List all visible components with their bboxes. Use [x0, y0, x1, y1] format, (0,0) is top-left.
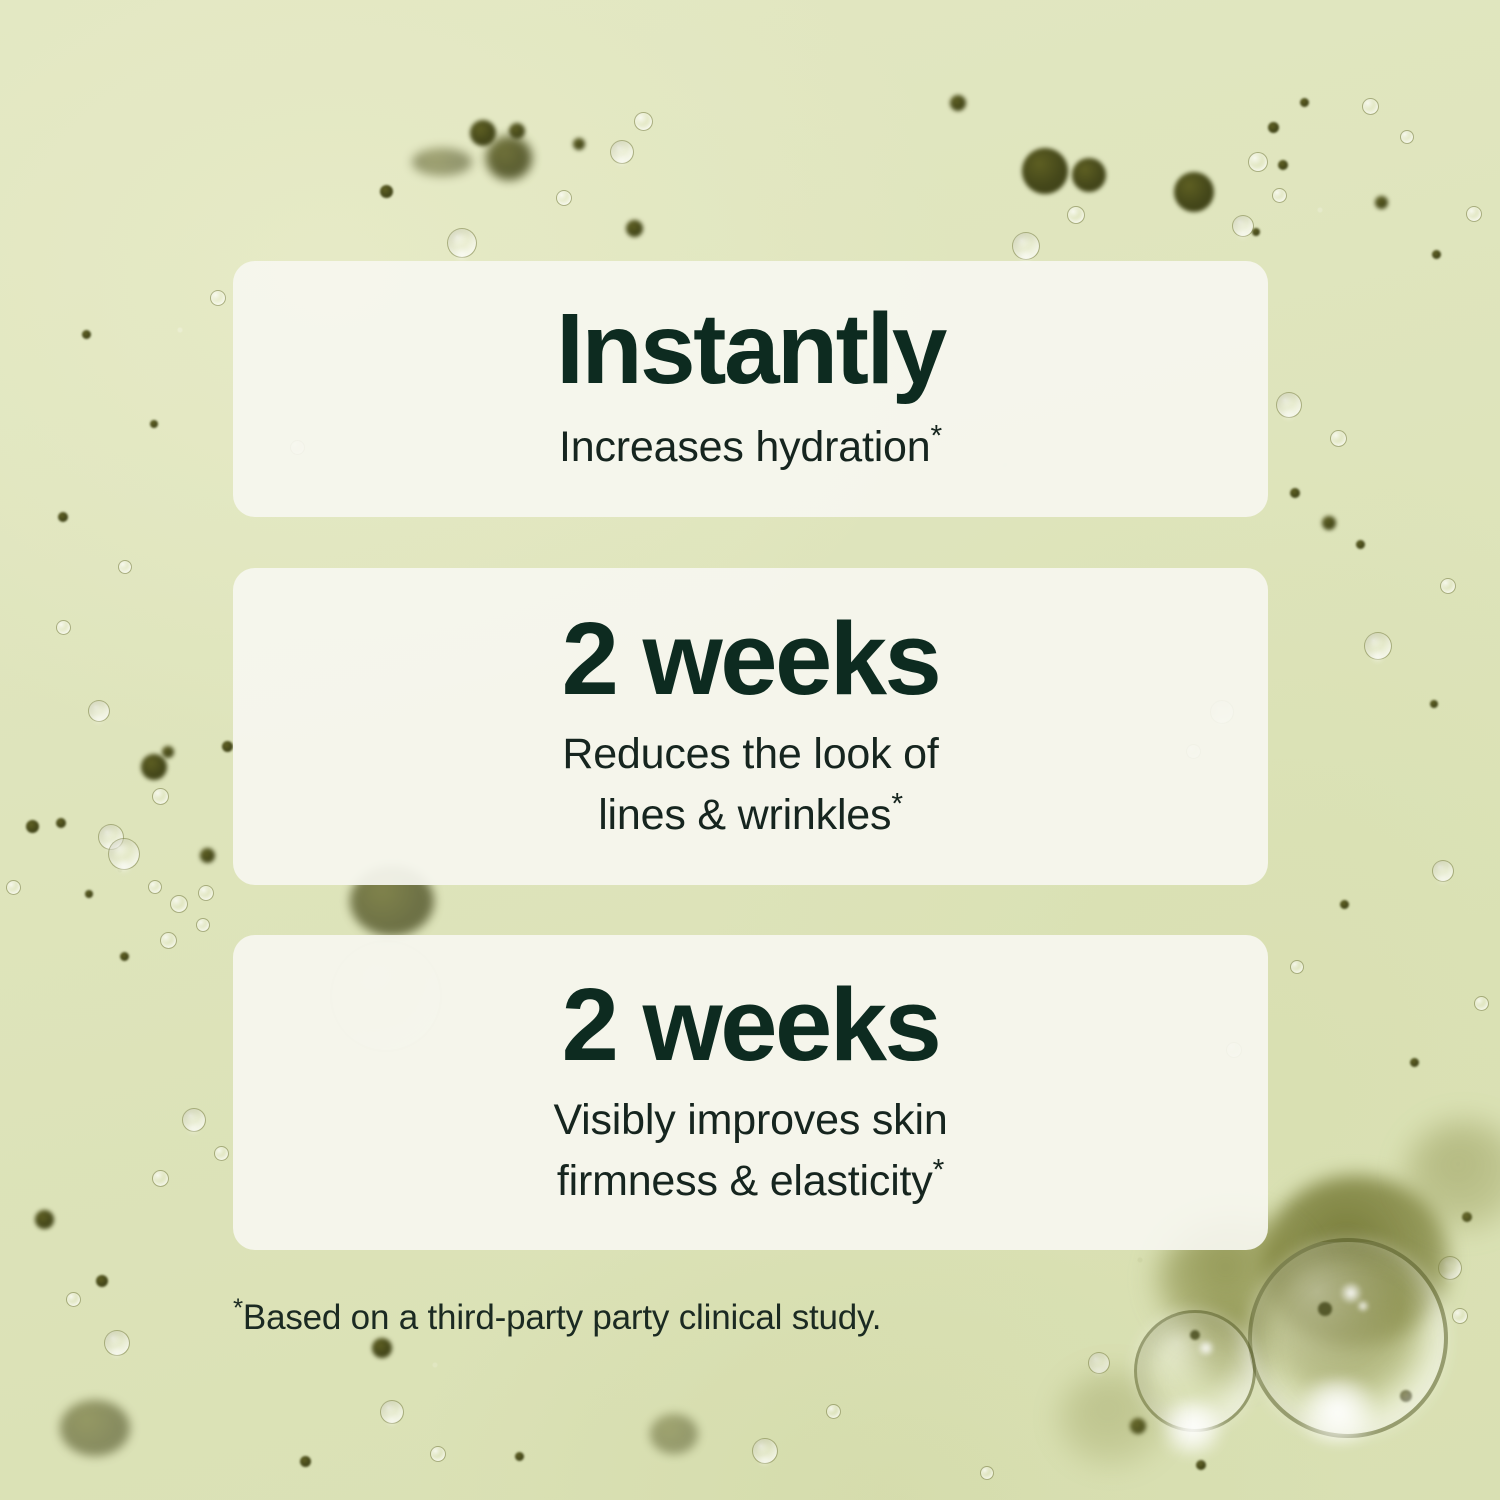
claim-timeframe: 2 weeks	[562, 973, 940, 1076]
footnote-marker: *	[930, 420, 941, 453]
claim-timeframe: Instantly	[556, 299, 945, 399]
claim-benefit: Visibly improves skin firmness & elastic…	[553, 1076, 947, 1212]
claim-benefit-line-2: firmness & elasticity*	[553, 1151, 947, 1212]
footnote-marker: *	[933, 1154, 944, 1187]
claim-benefit-line: Increases hydration	[559, 423, 930, 471]
claim-timeframe: 2 weeks	[562, 607, 940, 710]
disclaimer-text: *Based on a third-party party clinical s…	[233, 1297, 881, 1339]
claim-benefit-line: Visibly improves skin	[553, 1090, 947, 1151]
claim-card-instantly: Instantly Increases hydration*	[233, 261, 1268, 517]
claim-benefit: Reduces the look of lines & wrinkles*	[562, 710, 938, 846]
claim-card-lines-wrinkles: 2 weeks Reduces the look of lines & wrin…	[233, 568, 1268, 885]
footnote-marker: *	[233, 1292, 243, 1322]
claim-card-firmness-elasticity: 2 weeks Visibly improves skin firmness &…	[233, 935, 1268, 1250]
claim-benefit-line: Reduces the look of	[562, 724, 938, 785]
footnote-marker: *	[891, 788, 902, 821]
claim-benefit: Increases hydration*	[559, 399, 942, 478]
disclaimer-body: Based on a third-party party clinical st…	[243, 1298, 881, 1337]
claim-benefit-line-2: lines & wrinkles*	[562, 785, 938, 846]
product-claims-graphic: Instantly Increases hydration* 2 weeks R…	[0, 0, 1500, 1500]
